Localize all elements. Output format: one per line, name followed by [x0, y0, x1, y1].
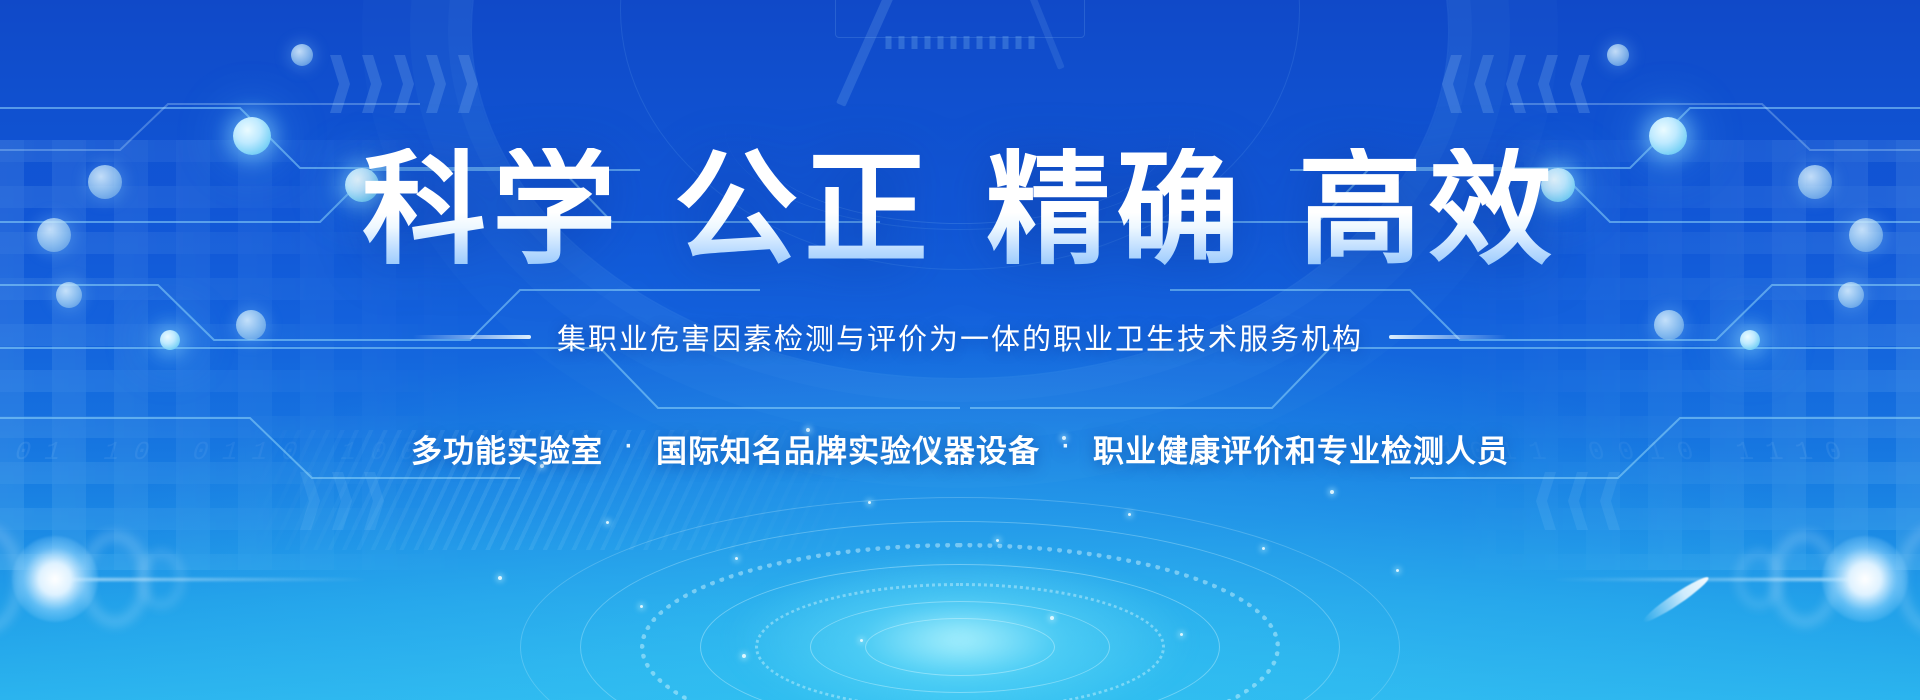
banner-root: 01 10 0110 1001 0011 1010 1100 0101 1011…: [0, 0, 1920, 700]
tagline-item-2: 国际知名品牌实验仪器设备: [656, 426, 1040, 471]
tagline-separator: ·: [625, 433, 634, 461]
tagline-item-3: 职业健康评价和专业检测人员: [1093, 426, 1509, 471]
headline-word-3: 精确: [986, 148, 1246, 272]
subtitle-text: 集职业危害因素检测与评价为一体的职业卫生技术服务机构: [557, 316, 1363, 358]
banner-content: 科学 公正 精确 高效 集职业危害因素检测与评价为一体的职业卫生技术服务机构 多…: [0, 0, 1920, 700]
tagline-item-1: 多功能实验室: [411, 426, 603, 471]
subtitle-row: 集职业危害因素检测与评价为一体的职业卫生技术服务机构: [413, 316, 1507, 358]
tagline-row: 多功能实验室 · 国际知名品牌实验仪器设备 · 职业健康评价和专业检测人员: [411, 426, 1509, 471]
tagline-separator: ·: [1062, 433, 1071, 461]
divider-left: [413, 335, 531, 339]
headline-word-4: 高效: [1298, 148, 1558, 272]
divider-right: [1389, 335, 1507, 339]
headline-word-1: 科学: [362, 148, 622, 272]
headline-word-2: 公正: [674, 148, 934, 272]
headline: 科学 公正 精确 高效: [362, 148, 1558, 272]
